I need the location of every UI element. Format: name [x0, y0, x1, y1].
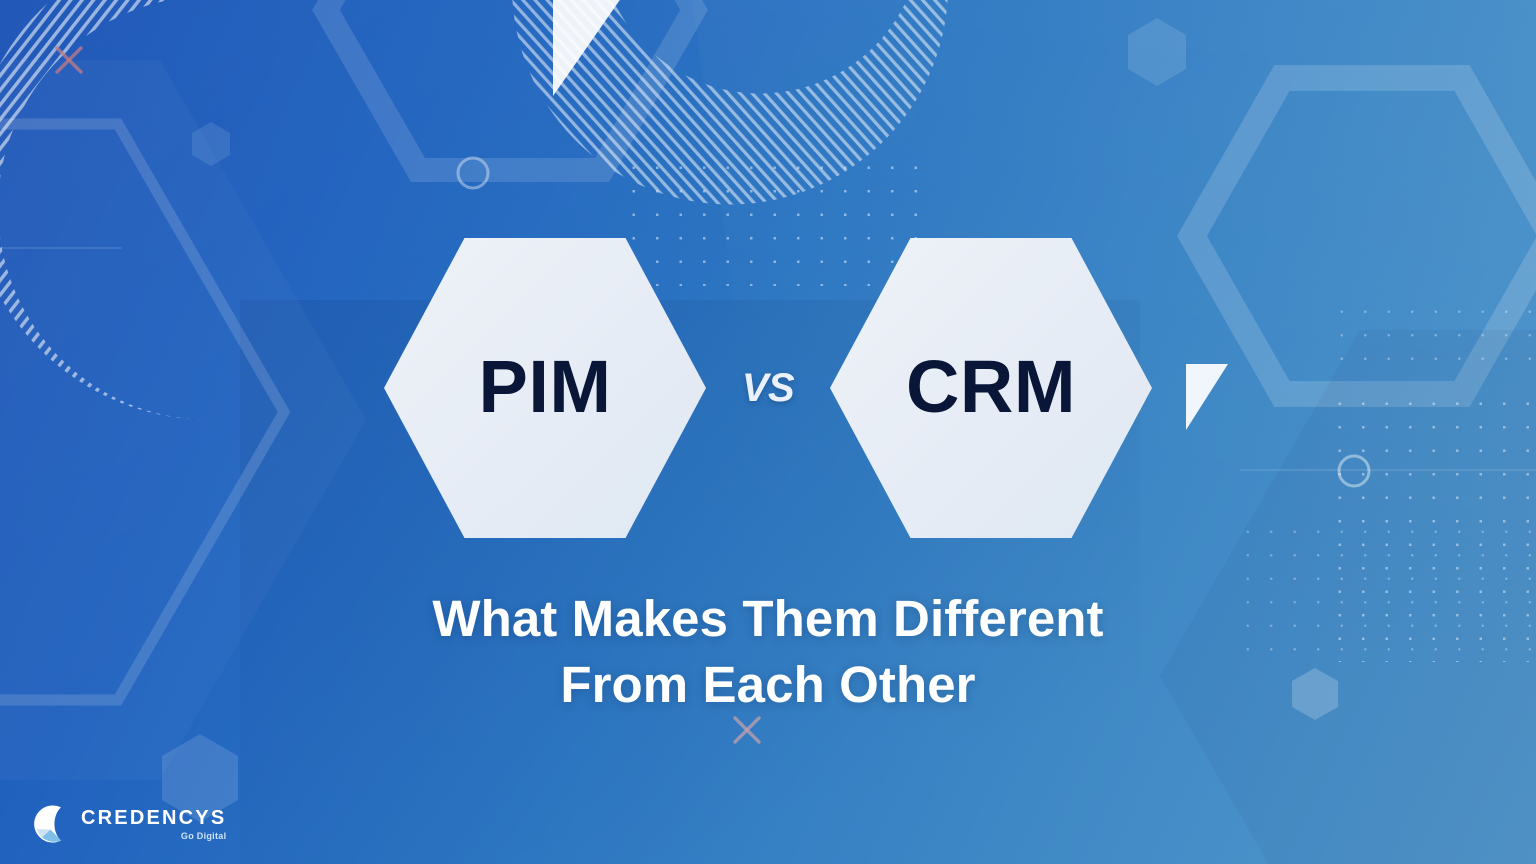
brand-tagline: Go Digital [81, 832, 226, 841]
headline-line-1: What Makes Them Different [0, 586, 1536, 652]
banner-content: PIM VS CRM What Makes Them Different Fro… [0, 0, 1536, 864]
hexagon-label-pim: PIM [478, 350, 611, 424]
hexagon-badge-crm: CRM [830, 238, 1152, 538]
credencys-crescent-logo-icon [28, 802, 72, 846]
banner-canvas: PIM VS CRM What Makes Them Different Fro… [0, 0, 1536, 864]
brand-logo[interactable]: CREDENCYS Go Digital [28, 802, 226, 846]
brand-logo-text: CREDENCYS Go Digital [81, 808, 226, 841]
hexagon-label-crm: CRM [906, 350, 1076, 424]
comparison-row: PIM VS CRM [0, 238, 1536, 538]
hexagon-badge-pim: PIM [384, 238, 706, 538]
headline-line-2: From Each Other [0, 652, 1536, 718]
versus-separator: VS [706, 366, 830, 411]
headline: What Makes Them Different From Each Othe… [0, 586, 1536, 719]
brand-name: CREDENCYS [81, 808, 226, 828]
